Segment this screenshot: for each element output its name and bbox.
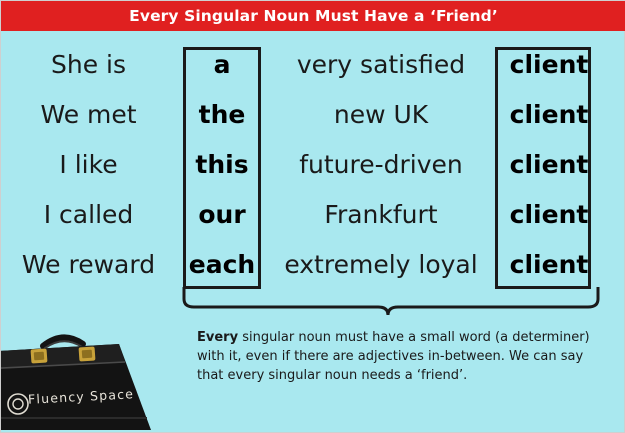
table-row: I like this future-driven client: [1, 139, 625, 189]
explanation-text: Every singular noun must have a small wo…: [197, 329, 597, 386]
row-adjective: very satisfied: [268, 50, 494, 79]
row-subject: She is: [1, 50, 176, 79]
table-row: We met the new UK client: [1, 89, 625, 139]
sentence-table: She is a very satisfied client We met th…: [1, 39, 625, 289]
row-adjective: new UK: [268, 100, 494, 129]
table-row: She is a very satisfied client: [1, 39, 625, 89]
row-noun: client: [494, 200, 604, 229]
row-noun: client: [494, 50, 604, 79]
row-subject: I like: [1, 150, 176, 179]
briefcase-illustration: [1, 322, 186, 432]
page-title: Every Singular Noun Must Have a ‘Friend’: [129, 7, 498, 25]
table-row: We reward each extremely loyal client: [1, 239, 625, 289]
row-adjective: Frankfurt: [268, 200, 494, 229]
title-bar: Every Singular Noun Must Have a ‘Friend’: [1, 1, 625, 31]
row-subject: We met: [1, 100, 176, 129]
explanation-body: singular noun must have a small word (a …: [197, 330, 590, 383]
row-noun: client: [494, 250, 604, 279]
table-row: I called our Frankfurt client: [1, 189, 625, 239]
row-subject: We reward: [1, 250, 176, 279]
explanation-lead: Every: [197, 330, 238, 345]
row-determiner: this: [176, 150, 268, 179]
row-determiner: our: [176, 200, 268, 229]
row-determiner: the: [176, 100, 268, 129]
slide-canvas: Every Singular Noun Must Have a ‘Friend’…: [0, 0, 625, 433]
row-adjective: extremely loyal: [268, 250, 494, 279]
row-determiner: a: [176, 50, 268, 79]
row-determiner: each: [176, 250, 268, 279]
row-subject: I called: [1, 200, 176, 229]
row-noun: client: [494, 150, 604, 179]
row-noun: client: [494, 100, 604, 129]
row-adjective: future-driven: [268, 150, 494, 179]
brace-connector-icon: [181, 287, 601, 317]
